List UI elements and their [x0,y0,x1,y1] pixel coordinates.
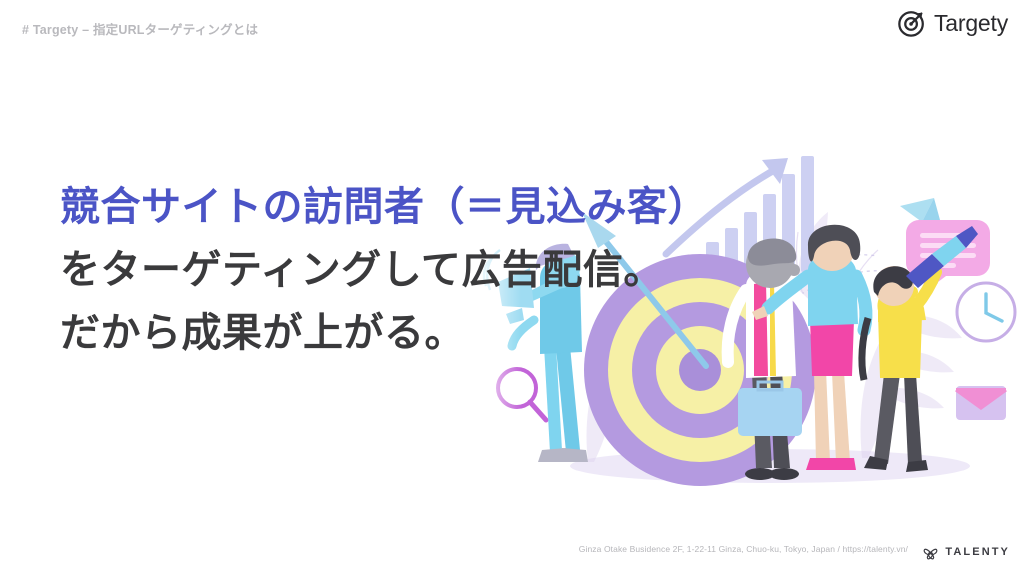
headline-line-2: をターゲティングして広告配信。 [60,239,760,302]
targety-brand-name: Targety [934,12,1008,35]
header-eyebrow-label: # Targety – 指定URLターゲティングとは [22,19,258,38]
headline-line-3: だから成果が上がる。 [60,302,760,365]
headline-block: 競合サイトの訪問者（＝見込み客） をターゲティングして広告配信。 だから成果が上… [60,176,760,366]
paper-plane-arrow [900,198,940,222]
envelope-icon [956,386,1006,420]
slide-canvas: # Targety – 指定URLターゲティングとは Targety [0,0,1024,576]
target-arrow-icon [897,8,927,38]
slide-header: # Targety – 指定URLターゲティングとは Targety [0,0,1024,56]
talenty-footer-logo: TALENTY [921,543,1010,562]
talenty-knot-icon [921,543,940,562]
targety-brand-logo: Targety [897,8,1008,38]
footer-address-text: Ginza Otake Busidence 2F, 1-22-11 Ginza,… [579,544,908,554]
talenty-footer-name: TALENTY [945,547,1010,558]
clock-icon [957,283,1015,341]
slide-footer: Ginza Otake Busidence 2F, 1-22-11 Ginza,… [0,520,1024,576]
headline-line-1: 競合サイトの訪問者（＝見込み客） [60,176,760,239]
